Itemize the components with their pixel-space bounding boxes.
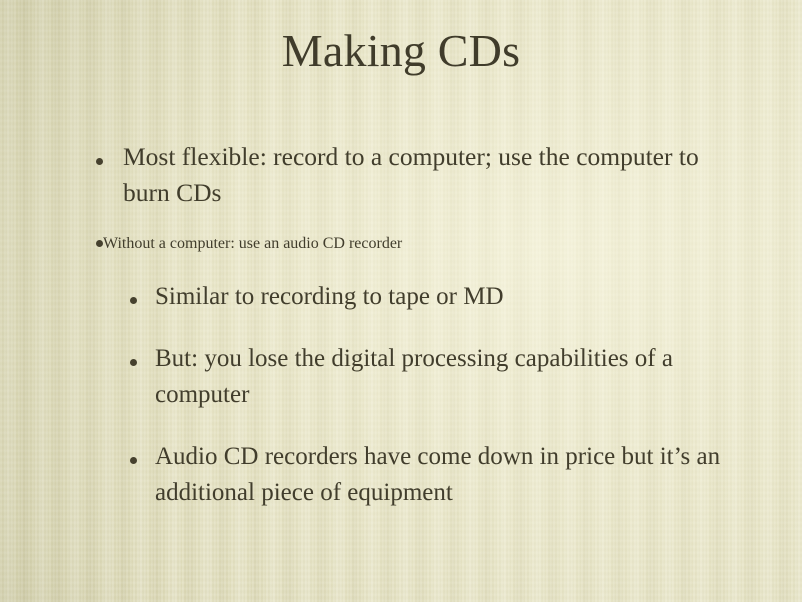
presentation-slide: Making CDs Most flexible: record to a co… (0, 0, 802, 602)
bullet-item-level1: Most flexible: record to a computer; use… (96, 139, 786, 211)
slide-content: Making CDs Most flexible: record to a co… (0, 0, 802, 602)
sub-bullet-text: But: you lose the digital processing cap… (155, 341, 755, 413)
dot-bullet-icon (130, 341, 155, 369)
dot-bullet-icon (130, 279, 155, 307)
bullet-item-level2: Audio CD recorders have come down in pri… (130, 439, 786, 511)
bullet-item-level1: Without a computer: use an audio CD reco… (96, 235, 786, 511)
bullet-text: Without a computer: use an audio CD reco… (103, 235, 402, 253)
slide-title: Making CDs (0, 26, 802, 76)
sub-bullet-list: Similar to recording to tape or MD But: … (130, 279, 786, 511)
dot-bullet-icon (96, 235, 103, 251)
sub-bullet-text: Similar to recording to tape or MD (155, 279, 504, 315)
bullet-row: Without a computer: use an audio CD reco… (96, 235, 786, 253)
bullet-item-level2: But: you lose the digital processing cap… (130, 341, 786, 413)
dot-bullet-icon (130, 439, 155, 467)
bullet-text: Most flexible: record to a computer; use… (123, 139, 713, 211)
dot-bullet-icon (96, 139, 123, 169)
sub-bullet-text: Audio CD recorders have come down in pri… (155, 439, 755, 511)
bullet-item-level2: Similar to recording to tape or MD (130, 279, 786, 315)
bullet-list: Most flexible: record to a computer; use… (96, 139, 786, 511)
